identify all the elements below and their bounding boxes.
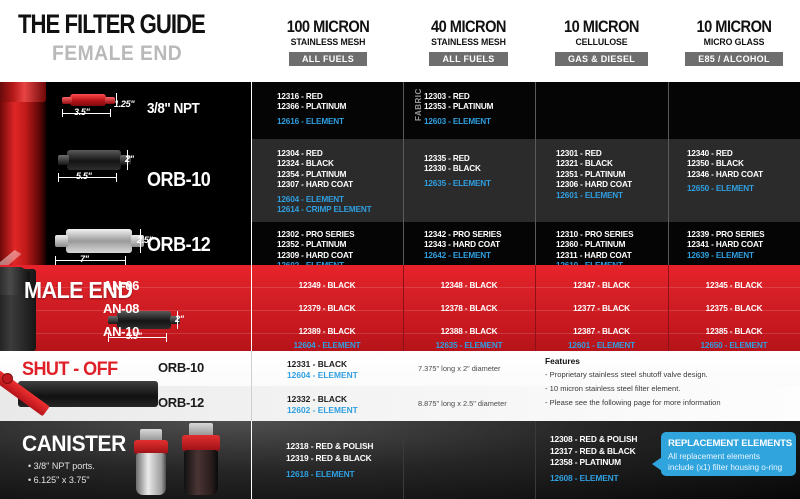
part-number-cell: 12303 - RED 12353 - PLATINUM 12603 - ELE… (424, 92, 493, 127)
part-number: 12387 - BLACK (535, 327, 668, 336)
row-label-orb12: ORB-12 (147, 234, 210, 257)
part-number: 12354 - PLATINUM (277, 170, 372, 180)
element-part-number: 12635 - ELEMENT (424, 179, 491, 189)
part-number-cell: 12332 - BLACK 12602 - ELEMENT (287, 394, 358, 416)
part-number-cell: 12342 - PRO SERIES 12343 - HARD COAT 126… (424, 230, 501, 261)
element-part-number: 12639 - ELEMENT (687, 251, 764, 261)
filter-body (67, 150, 121, 170)
element-part-number: 12604 - ELEMENT (277, 195, 372, 205)
part-number: 12388 - BLACK (403, 327, 535, 336)
part-number: 12353 - PLATINUM (424, 102, 493, 112)
replacement-elements-badge: REPLACEMENT ELEMENTS All replacement ele… (661, 432, 796, 476)
part-number: 12379 - BLACK (251, 304, 403, 313)
part-number: 12306 - HARD COAT (556, 180, 632, 190)
column-micron-label: 100 MICRON (264, 18, 391, 36)
element-part-number: 12604 - ELEMENT (287, 370, 358, 381)
part-number: 12311 - HARD COAT (556, 251, 633, 261)
filter-graphic-orb12 (55, 229, 145, 253)
column-fuel-badge: ALL FUELS (289, 52, 367, 66)
canister-spec-item: • 6.125" x 3.75" (28, 473, 95, 487)
part-number: 12307 - HARD COAT (277, 180, 372, 190)
part-number: 12378 - BLACK (403, 304, 535, 313)
part-number: 12349 - BLACK (251, 281, 403, 290)
part-number: 12302 - PRO SERIES (277, 230, 354, 240)
element-part-number: 12642 - ELEMENT (424, 251, 501, 261)
male-end-section: 5.5" 2" MALE END AN-06 AN-08 AN-10 12349… (0, 265, 800, 351)
dimension-tick (55, 256, 56, 265)
part-number: 12330 - BLACK (424, 164, 491, 174)
element-part-number: 12614 - CRIMP ELEMENT (277, 205, 372, 215)
canister-spec-list: • 3/8" NPT ports. • 6.125" x 3.75" (28, 459, 95, 487)
dimension-tick (58, 173, 59, 182)
shutoff-pivot-icon (2, 373, 13, 384)
dimension-length-label: 5.5" (76, 171, 92, 181)
canister-cap (134, 440, 168, 454)
element-part-number: 12635 - ELEMENT (403, 341, 535, 350)
column-header-100-micron: 100 MICRON STAINLESS MESH ALL FUELS (254, 18, 402, 67)
element-part-number: 12650 - ELEMENT (668, 341, 800, 350)
row-label-an10: AN-10 (103, 324, 139, 339)
part-number: 12301 - RED (556, 149, 632, 159)
canister-body (184, 450, 218, 495)
part-number-cell: 12301 - RED 12321 - BLACK 12351 - PLATIN… (556, 149, 632, 201)
part-number: 12350 - BLACK (687, 159, 763, 169)
dimension-diameter-label: 2" (175, 314, 184, 324)
part-number: 12375 - BLACK (668, 304, 800, 313)
part-number-cell: 12339 - PRO SERIES 12341 - HARD COAT 126… (687, 230, 764, 261)
part-number: 12317 - RED & BLACK (550, 446, 637, 458)
canister-cap (182, 435, 220, 451)
dimension-diameter-label: 1.25" (114, 99, 134, 109)
part-number: 12308 - RED & POLISH (550, 434, 637, 446)
part-number: 12339 - PRO SERIES (687, 230, 764, 240)
shutoff-section: SHUT - OFF ORB-10 ORB-12 12331 - BLACK 1… (0, 351, 800, 421)
element-part-number: 12608 - ELEMENT (550, 473, 637, 485)
part-number: 12303 - RED (424, 92, 493, 102)
part-number-cell: 12340 - RED 12350 - BLACK 12346 - HARD C… (687, 149, 763, 195)
filter-end-left (58, 155, 69, 165)
filter-body (66, 229, 132, 253)
column-micron-label: 10 MICRON (544, 18, 658, 36)
column-divider (251, 421, 252, 499)
part-number: 12346 - HARD COAT (687, 170, 763, 180)
feature-item: - 10 micron stainless steel filter eleme… (545, 384, 680, 393)
column-divider (403, 421, 404, 499)
part-number: 12321 - BLACK (556, 159, 632, 169)
part-number: 12319 - RED & BLACK (286, 453, 373, 465)
row-label-shutoff-orb12: ORB-12 (158, 395, 204, 410)
page-title: THE FILTER GUIDE (18, 9, 205, 40)
column-material-label: CELLULOSE (540, 36, 662, 49)
filter-guide-page: THE FILTER GUIDE FEMALE END 100 MICRON S… (0, 0, 800, 499)
column-divider (535, 421, 536, 499)
part-number: 12366 - PLATINUM (277, 102, 346, 112)
section-label-shutoff: SHUT - OFF (22, 359, 118, 381)
element-part-number: 12603 - ELEMENT (424, 117, 493, 127)
column-divider (251, 351, 252, 421)
filter-graphic-npt (62, 94, 114, 106)
shutoff-dimension-label: 7.375" long x 2" diameter (418, 364, 501, 373)
dimension-tick (116, 173, 117, 182)
part-number: 12342 - PRO SERIES (424, 230, 501, 240)
canister-graphic-black (176, 423, 228, 495)
row-label-orb10: ORB-10 (147, 169, 210, 192)
part-number: 12304 - RED (277, 149, 372, 159)
canister-spec-item: • 3/8" NPT ports. (28, 459, 95, 473)
canister-graphic-polish (128, 429, 176, 495)
part-number: 12343 - HARD COAT (424, 240, 501, 250)
row-label-an08: AN-08 (103, 301, 139, 316)
features-heading: Features (545, 356, 580, 366)
part-number: 12377 - BLACK (535, 304, 668, 313)
part-number: 12345 - BLACK (668, 281, 800, 290)
part-number: 12324 - BLACK (277, 159, 372, 169)
dimension-length-label: 3.5" (74, 107, 90, 117)
part-number-cell: 12304 - RED 12324 - BLACK 12354 - PLATIN… (277, 149, 372, 215)
part-number: 12385 - BLACK (668, 327, 800, 336)
filter-end-left (108, 316, 118, 324)
element-part-number: 12601 - ELEMENT (535, 341, 668, 350)
part-number: 12389 - BLACK (251, 327, 403, 336)
badge-subtitle-line: include (x1) filter housing o-ring (668, 463, 782, 474)
part-number-cell: 12335 - RED 12330 - BLACK 12635 - ELEMEN… (424, 154, 491, 189)
element-part-number: 12604 - ELEMENT (251, 341, 403, 350)
part-number: 12316 - RED (277, 92, 346, 102)
part-number: 12358 - PLATINUM (550, 457, 637, 469)
row-label-npt: 3/8" NPT (147, 100, 199, 117)
column-fuel-badge: E85 / ALCOHOL (685, 52, 783, 66)
column-header-10-micron-cellulose: 10 MICRON CELLULOSE GAS & DIESEL (535, 18, 668, 67)
dimension-tick (110, 109, 111, 117)
row-label-shutoff-orb10: ORB-10 (158, 360, 204, 375)
element-part-number: 12601 - ELEMENT (556, 191, 632, 201)
element-part-number: 12602 - ELEMENT (287, 405, 358, 416)
part-number: 12352 - PLATINUM (277, 240, 354, 250)
filter-graphic-orb10 (58, 150, 130, 170)
column-material-label: STAINLESS MESH (408, 36, 529, 49)
feature-item: - Proprietary stainless steel shutoff va… (545, 370, 708, 379)
part-number-cell: 12318 - RED & POLISH 12319 - RED & BLACK… (286, 441, 373, 481)
red-filter-tube-cap-graphic (0, 82, 46, 102)
dimension-tick (62, 109, 63, 117)
element-part-number: 12650 - ELEMENT (687, 184, 763, 194)
dimension-diameter-label: 2" (125, 154, 134, 164)
dimension-line-length (55, 260, 125, 261)
element-part-number: 12616 - ELEMENT (277, 117, 346, 127)
badge-subtitle: All replacement elements include (x1) fi… (668, 452, 782, 473)
filter-end-left (62, 97, 72, 104)
filter-body (70, 94, 106, 106)
part-number: 12310 - PRO SERIES (556, 230, 633, 240)
section-label-female-end: FEMALE END (52, 42, 182, 66)
fabric-tag-label: FABRIC (414, 88, 423, 121)
part-number: 12331 - BLACK (287, 359, 358, 370)
column-fuel-badge: GAS & DIESEL (555, 52, 648, 66)
part-number-cell: 12316 - RED 12366 - PLATINUM 12616 - ELE… (277, 92, 346, 127)
column-micron-label: 10 MICRON (677, 18, 791, 36)
part-number: 12318 - RED & POLISH (286, 441, 373, 453)
part-number: 12351 - PLATINUM (556, 170, 632, 180)
column-material-label: STAINLESS MESH (260, 36, 396, 49)
column-material-label: MICRO GLASS (673, 36, 794, 49)
page-header: THE FILTER GUIDE FEMALE END 100 MICRON S… (0, 0, 800, 82)
canister-body (136, 453, 166, 495)
part-number: 12348 - BLACK (403, 281, 535, 290)
shutoff-dimension-label: 8.875" long x 2.5" diameter (418, 399, 507, 408)
part-number: 12309 - HARD COAT (277, 251, 354, 261)
badge-title: REPLACEMENT ELEMENTS (668, 438, 792, 449)
column-fuel-badge: ALL FUELS (429, 52, 507, 66)
part-number: 12332 - BLACK (287, 394, 358, 405)
badge-subtitle-line: All replacement elements (668, 452, 782, 463)
section-label-canister: CANISTER (22, 431, 126, 457)
row-label-an06: AN-06 (103, 278, 139, 293)
part-number-cell: 12331 - BLACK 12604 - ELEMENT (287, 359, 358, 381)
part-number-cell: 12308 - RED & POLISH 12317 - RED & BLACK… (550, 434, 637, 484)
feature-item: - Please see the following page for more… (545, 398, 721, 407)
element-part-number: 12618 - ELEMENT (286, 469, 373, 481)
part-number: 12335 - RED (424, 154, 491, 164)
dimension-tick (125, 256, 126, 265)
part-number: 12347 - BLACK (535, 281, 668, 290)
part-number: 12341 - HARD COAT (687, 240, 764, 250)
column-header-40-micron: 40 MICRON STAINLESS MESH ALL FUELS (403, 18, 534, 67)
part-number: 12360 - PLATINUM (556, 240, 633, 250)
dimension-length-label: 7" (80, 254, 89, 264)
part-number: 12340 - RED (687, 149, 763, 159)
filter-end-left (55, 235, 68, 247)
column-header-10-micron-micro-glass: 10 MICRON MICRO GLASS E85 / ALCOHOL (668, 18, 800, 67)
column-micron-label: 40 MICRON (412, 18, 525, 36)
